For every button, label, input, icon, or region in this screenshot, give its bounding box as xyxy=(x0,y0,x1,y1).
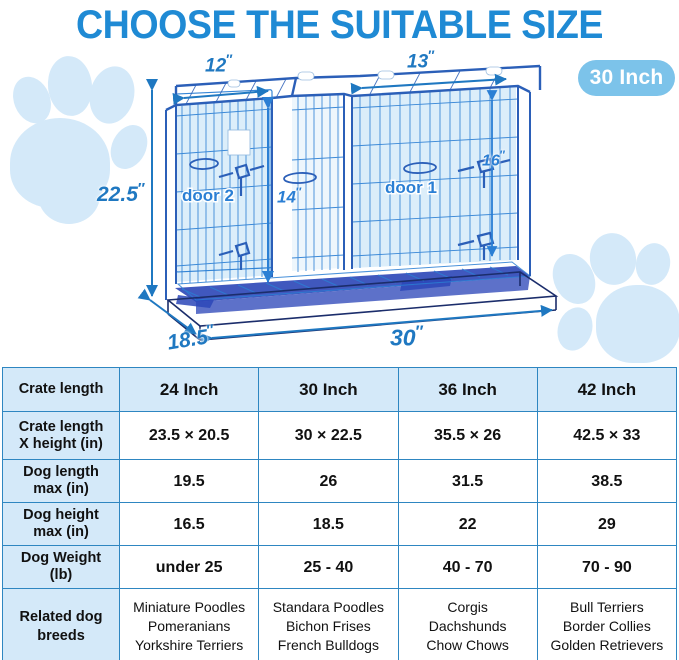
crate-illustration: 12″ 13″ 22.5″ 14″ 16″ 18.5″ 30″ door 2 d… xyxy=(0,50,679,365)
cell-breeds-36: CorgisDachshundsChow Chows xyxy=(398,589,537,660)
row-label-crate-length: Crate length xyxy=(3,368,120,412)
dimension-label-left-height: 22.5″ xyxy=(97,180,145,207)
cell-dog-length-36: 31.5 xyxy=(398,460,537,503)
table-row-dog-length: Dog lengthmax (in) 19.5 26 31.5 38.5 xyxy=(3,460,677,503)
crate-wireframe-graphic xyxy=(0,50,679,365)
cell-dog-weight-36: 40 - 70 xyxy=(398,546,537,589)
dimension-label-length: 30″ xyxy=(390,322,424,352)
cell-dog-height-24: 16.5 xyxy=(120,503,259,546)
table-row-dog-weight: Dog Weight(lb) under 25 25 - 40 40 - 70 … xyxy=(3,546,677,589)
row-label-dog-length-max: Dog lengthmax (in) xyxy=(3,460,120,503)
cell-dog-length-24: 19.5 xyxy=(120,460,259,503)
dimension-label-right-height: 16″ xyxy=(482,150,505,170)
column-header-30: 30 Inch xyxy=(259,368,398,412)
row-label-crate-length-x-height: Crate lengthX height (in) xyxy=(3,412,120,460)
table-row-related-breeds: Related dogbreeds Miniature PoodlesPomer… xyxy=(3,589,677,660)
cell-dog-weight-30: 25 - 40 xyxy=(259,546,398,589)
column-header-24: 24 Inch xyxy=(120,368,259,412)
row-label-dog-weight: Dog Weight(lb) xyxy=(3,546,120,589)
size-comparison-table: Crate length 24 Inch 30 Inch 36 Inch 42 … xyxy=(2,367,677,660)
column-header-36: 36 Inch xyxy=(398,368,537,412)
cell-dog-height-36: 22 xyxy=(398,503,537,546)
infographic-page: CHOOSE THE SUITABLE SIZE 30 Inch xyxy=(0,0,679,660)
cell-dog-weight-42: 70 - 90 xyxy=(537,546,676,589)
cell-dog-height-42: 29 xyxy=(537,503,676,546)
cell-dog-length-30: 26 xyxy=(259,460,398,503)
dimension-label-top-left: 12″ xyxy=(205,52,233,77)
cell-dog-weight-24: under 25 xyxy=(120,546,259,589)
column-header-42: 42 Inch xyxy=(537,368,676,412)
cell-dog-height-30: 18.5 xyxy=(259,503,398,546)
table-row-dog-height: Dog heightmax (in) 16.5 18.5 22 29 xyxy=(3,503,677,546)
cell-crate-dim-42: 42.5 × 33 xyxy=(537,412,676,460)
cell-breeds-24: Miniature PoodlesPomeraniansYorkshire Te… xyxy=(120,589,259,660)
door-1-label: door 1 xyxy=(385,178,437,198)
row-label-dog-height-max: Dog heightmax (in) xyxy=(3,503,120,546)
cell-crate-dim-24: 23.5 × 20.5 xyxy=(120,412,259,460)
dimension-label-top-right: 13″ xyxy=(407,48,435,73)
cell-dog-length-42: 38.5 xyxy=(537,460,676,503)
table-row-header: Crate length 24 Inch 30 Inch 36 Inch 42 … xyxy=(3,368,677,412)
cell-breeds-30: Standara PoodlesBichon FrisesFrench Bull… xyxy=(259,589,398,660)
cell-breeds-42: Bull TerriersBorder ColliesGolden Retrie… xyxy=(537,589,676,660)
door-2-label: door 2 xyxy=(182,186,234,206)
page-title: CHOOSE THE SUITABLE SIZE xyxy=(20,2,658,48)
dimension-label-inner-height: 14″ xyxy=(277,185,302,208)
cell-crate-dim-36: 35.5 × 26 xyxy=(398,412,537,460)
table-row-crate-length-x-height: Crate lengthX height (in) 23.5 × 20.5 30… xyxy=(3,412,677,460)
row-label-related-breeds: Related dogbreeds xyxy=(3,589,120,660)
cell-crate-dim-30: 30 × 22.5 xyxy=(259,412,398,460)
